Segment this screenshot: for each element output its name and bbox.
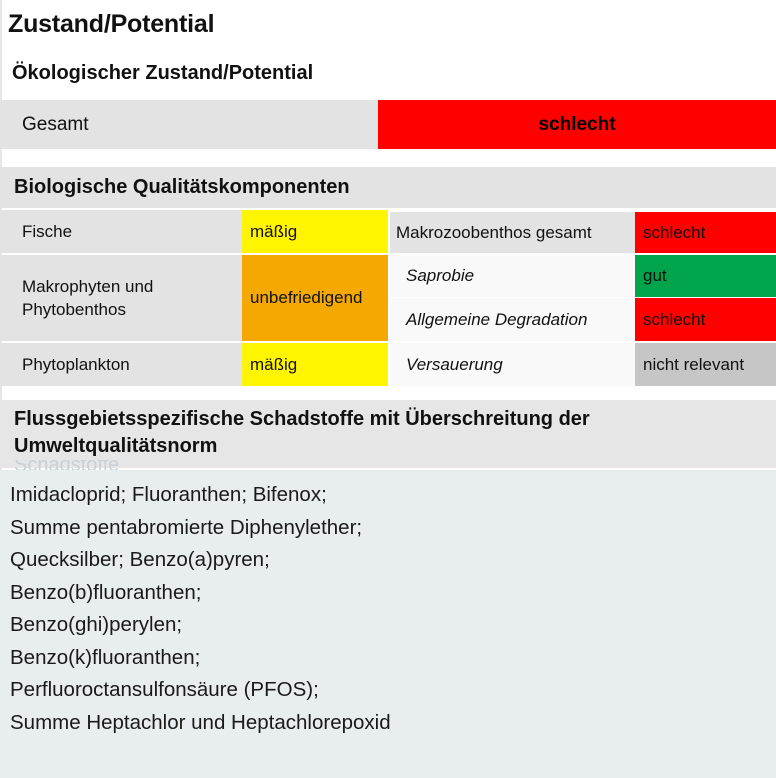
biological-quality-heading: Biologische Qualitätskomponenten	[0, 176, 350, 199]
biological-quality-heading-band: Biologische Qualitätskomponenten	[0, 167, 776, 208]
list-item: Quecksilber; Benzo(a)pyren;	[10, 544, 764, 577]
pollutants-heading-line1: Flussgebietsspezifische Schadstoffe mit …	[14, 406, 756, 433]
component-name: Makrophyten und Phytobenthos	[0, 275, 242, 321]
component-status-cell: schlecht	[635, 298, 776, 341]
component-status-cell: mäßig	[242, 343, 388, 386]
component-status-cell: gut	[635, 255, 776, 297]
component-name-cell: Phytoplankton	[0, 343, 242, 386]
table-row: Versauerung nicht relevant	[390, 343, 776, 386]
list-item: Imidacloprid; Fluoranthen; Bifenox;	[10, 479, 764, 512]
component-name: Phytoplankton	[0, 353, 130, 376]
list-item: Benzo(ghi)perylen;	[10, 609, 764, 642]
component-status-value: unbefriedigend	[242, 288, 362, 308]
component-name: Saprobie	[390, 266, 474, 286]
component-status-value: schlecht	[635, 310, 705, 330]
list-item: Summe pentabromierte Diphenylether;	[10, 512, 764, 545]
overall-status-value: schlecht	[538, 114, 615, 136]
component-name: Allgemeine Degradation	[390, 310, 587, 330]
biological-quality-grid: Fische mäßig Makrophyten und Phytobentho…	[0, 210, 776, 386]
table-row: Fische mäßig	[0, 210, 388, 253]
component-name-cell: Versauerung	[390, 343, 635, 386]
list-item: Perfluoroctansulfonsäure (PFOS);	[10, 674, 764, 707]
table-row: Phytoplankton mäßig	[0, 343, 388, 386]
pollutants-heading-band: Flussgebietsspezifische Schadstoffe mit …	[0, 400, 776, 468]
component-name-cell: Makrozoobenthos gesamt	[390, 212, 635, 253]
component-name-cell: Fische	[0, 210, 242, 253]
component-status-value: mäßig	[242, 222, 297, 242]
component-status-cell: mäßig	[242, 210, 388, 253]
component-name: Fische	[0, 220, 72, 243]
component-name-cell: Makrophyten und Phytobenthos	[0, 255, 242, 341]
list-item: Benzo(k)fluoranthen;	[10, 642, 764, 675]
ecological-status-heading: Ökologischer Zustand/Potential	[12, 62, 313, 85]
table-row: Saprobie gut	[390, 255, 776, 297]
table-row: Makrozoobenthos gesamt schlecht	[390, 212, 776, 253]
pollutants-list: Imidacloprid; Fluoranthen; Bifenox; Summ…	[0, 470, 776, 778]
page-title: Zustand/Potential	[8, 10, 214, 39]
table-row: Makrophyten und Phytobenthos unbefriedig…	[0, 255, 388, 341]
list-item: Benzo(b)fluoranthen;	[10, 577, 764, 610]
pollutants-heading-line2: Umweltqualitätsnorm	[14, 433, 756, 460]
component-status-value: schlecht	[635, 223, 705, 243]
list-item: Summe Heptachlor und Heptachlorepoxid	[10, 707, 764, 740]
component-name: Versauerung	[390, 355, 503, 375]
pollutants-clipped-text: Schadstoffe	[14, 460, 434, 470]
component-status-cell: schlecht	[635, 212, 776, 253]
overall-status-label-cell: Gesamt	[0, 100, 378, 149]
component-status-cell: unbefriedigend	[242, 255, 388, 341]
component-name: Makrozoobenthos gesamt	[390, 223, 592, 243]
component-status-value: gut	[635, 266, 667, 286]
overall-status-label: Gesamt	[0, 114, 89, 136]
component-name-cell: Saprobie	[390, 255, 635, 297]
component-status-value: mäßig	[242, 355, 297, 375]
component-name-cell: Allgemeine Degradation	[390, 298, 635, 341]
overall-status-value-cell: schlecht	[378, 100, 776, 149]
component-status-value: nicht relevant	[635, 355, 744, 375]
overall-status-row: Gesamt schlecht	[0, 100, 776, 149]
component-status-cell: nicht relevant	[635, 343, 776, 386]
table-row: Allgemeine Degradation schlecht	[390, 298, 776, 341]
